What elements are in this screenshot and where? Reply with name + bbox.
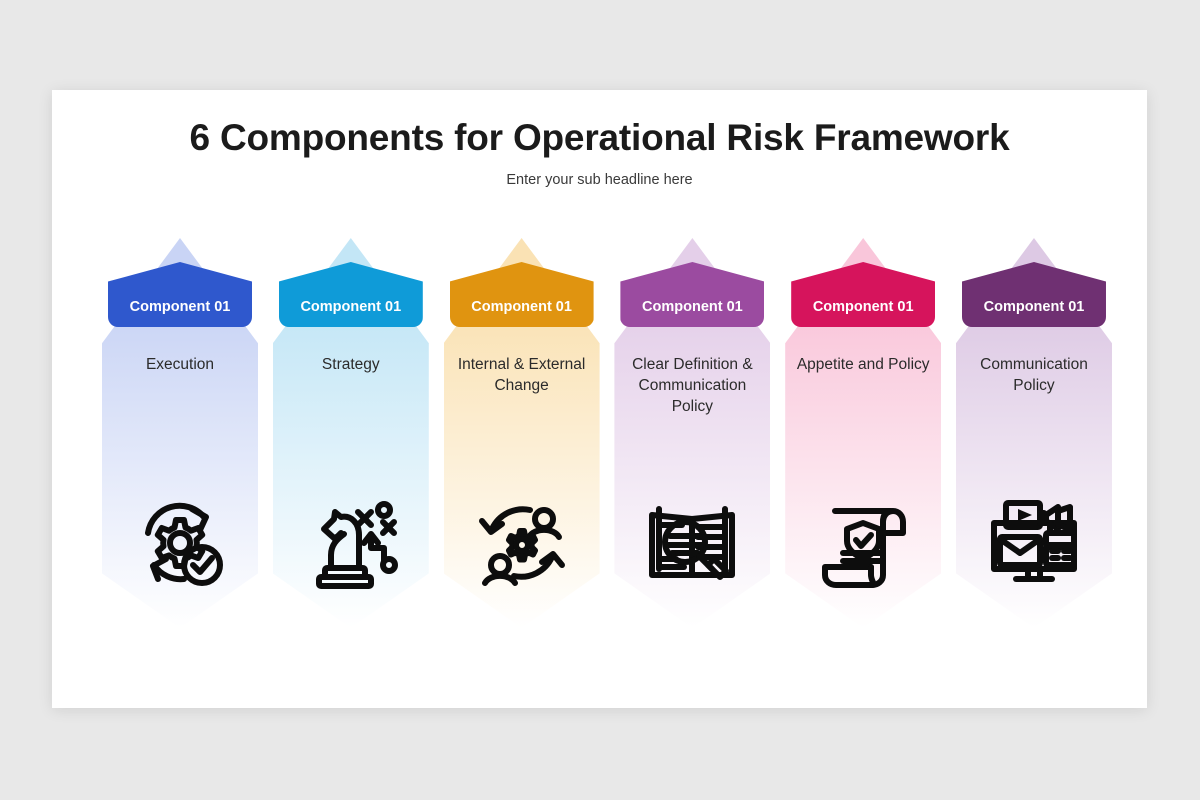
component-title-4: Clear Definition & Communication Policy [620,354,764,417]
component-card-2[interactable]: Component 01 Strategy [273,238,429,628]
chess-knight-strategy-icon [296,488,406,598]
component-badge-label-4: Component 01 [642,299,743,327]
component-title-6: Communication Policy [962,354,1106,396]
book-magnifier-icon [637,488,747,598]
component-title-1: Execution [108,354,252,375]
component-badge-3[interactable]: Component 01 [450,262,594,327]
component-badge-label-1: Component 01 [130,299,231,327]
component-badge-2[interactable]: Component 01 [279,262,423,327]
component-badge-label-3: Component 01 [471,299,572,327]
page-subtitle: Enter your sub headline here [52,172,1147,188]
component-badge-label-6: Component 01 [984,299,1085,327]
gear-refresh-check-icon [125,488,235,598]
component-badge-6[interactable]: Component 01 [962,262,1106,327]
users-gear-exchange-icon [467,488,577,598]
component-badge-1[interactable]: Component 01 [108,262,252,327]
component-card-6[interactable]: Component 01 Communication Policy [956,238,1112,628]
component-card-3[interactable]: Component 01 Internal & External Change [444,238,600,628]
component-card-1[interactable]: Component 01 Execution [102,238,258,628]
component-badge-label-5: Component 01 [813,299,914,327]
monitor-megaphone-mail-icon [979,488,1089,598]
component-title-2: Strategy [279,354,423,375]
component-card-5[interactable]: Component 01 Appetite and Policy [785,238,941,628]
components-row: Component 01 Execution Compon [102,238,1112,628]
component-title-5: Appetite and Policy [791,354,935,375]
component-title-3: Internal & External Change [450,354,594,396]
component-badge-label-2: Component 01 [300,299,401,327]
page-title: 6 Components for Operational Risk Framew… [52,117,1147,159]
scroll-shield-check-icon [808,488,918,598]
component-badge-4[interactable]: Component 01 [620,262,764,327]
component-badge-5[interactable]: Component 01 [791,262,935,327]
slide-canvas: 6 Components for Operational Risk Framew… [52,90,1147,708]
component-card-4[interactable]: Component 01 Clear Definition & Communic… [614,238,770,628]
